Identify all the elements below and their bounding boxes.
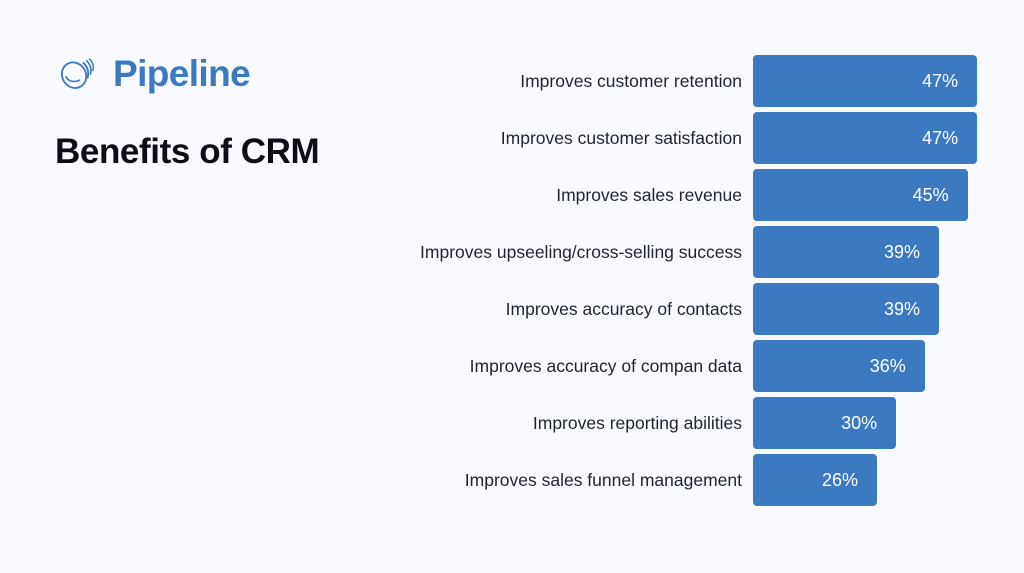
bar-category-label: Improves reporting abilities (533, 397, 742, 449)
bar: 39% (753, 283, 939, 335)
bar: 39% (753, 226, 939, 278)
bar-row: Improves customer retention47% (0, 55, 1024, 107)
bar: 47% (753, 112, 977, 164)
infographic-canvas: Pipeline Benefits of CRM Improves custom… (0, 0, 1024, 573)
bar-row: Improves accuracy of contacts39% (0, 283, 1024, 335)
bar-category-label: Improves accuracy of compan data (470, 340, 742, 392)
bar-track: 39% (753, 226, 939, 278)
bar-track: 30% (753, 397, 896, 449)
bar-category-label: Improves customer satisfaction (501, 112, 742, 164)
bar-category-label: Improves sales funnel management (465, 454, 742, 506)
bar-row: Improves upseeling/cross-selling success… (0, 226, 1024, 278)
bar-track: 36% (753, 340, 925, 392)
bar: 36% (753, 340, 925, 392)
bar-track: 45% (753, 169, 968, 221)
bar: 47% (753, 55, 977, 107)
bar-value-label: 45% (913, 186, 968, 204)
bar-track: 47% (753, 112, 977, 164)
bar-category-label: Improves sales revenue (556, 169, 742, 221)
horizontal-bar-chart: Improves customer retention47%Improves c… (0, 0, 1024, 573)
bar-category-label: Improves accuracy of contacts (506, 283, 742, 335)
bar-row: Improves reporting abilities30% (0, 397, 1024, 449)
bar: 30% (753, 397, 896, 449)
bar-value-label: 47% (922, 72, 977, 90)
bar-value-label: 39% (884, 300, 939, 318)
bar-category-label: Improves upseeling/cross-selling success (420, 226, 742, 278)
bar-row: Improves sales revenue45% (0, 169, 1024, 221)
bar-category-label: Improves customer retention (520, 55, 742, 107)
bar-track: 47% (753, 55, 977, 107)
bar-value-label: 26% (822, 471, 877, 489)
bar-track: 26% (753, 454, 877, 506)
bar-row: Improves sales funnel management26% (0, 454, 1024, 506)
bar-value-label: 30% (841, 414, 896, 432)
bar-value-label: 39% (884, 243, 939, 261)
bar-row: Improves customer satisfaction47% (0, 112, 1024, 164)
bar-row: Improves accuracy of compan data36% (0, 340, 1024, 392)
bar-track: 39% (753, 283, 939, 335)
bar-value-label: 47% (922, 129, 977, 147)
bar: 26% (753, 454, 877, 506)
bar-value-label: 36% (870, 357, 925, 375)
bar: 45% (753, 169, 968, 221)
